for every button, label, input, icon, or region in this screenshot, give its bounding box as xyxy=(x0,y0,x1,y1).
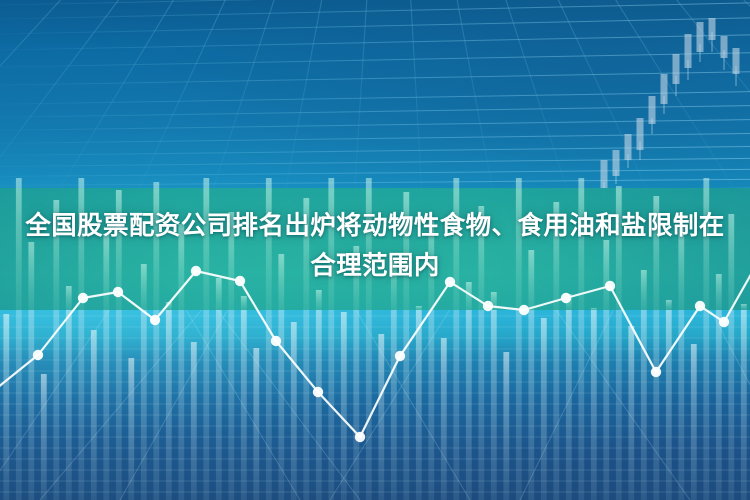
line-chart-marker xyxy=(395,351,405,361)
line-chart-marker xyxy=(719,317,729,327)
headline-line-2: 合理范围内 xyxy=(16,246,734,286)
line-chart-marker xyxy=(113,287,123,297)
line-chart-marker xyxy=(651,367,661,377)
line-chart-path xyxy=(0,262,750,437)
line-chart-marker xyxy=(695,301,705,311)
line-chart-markers xyxy=(33,266,729,442)
line-chart-marker xyxy=(78,293,88,303)
page-title: 全国股票配资公司排名出炉将动物性食物、食用油和盐限制在 合理范围内 xyxy=(0,206,750,286)
line-chart-marker xyxy=(271,336,281,346)
headline-line-1: 全国股票配资公司排名出炉将动物性食物、食用油和盐限制在 xyxy=(16,206,734,246)
line-chart-marker xyxy=(150,315,160,325)
line-chart-marker xyxy=(313,387,323,397)
line-chart-marker xyxy=(33,350,43,360)
line-chart-marker xyxy=(561,293,571,303)
banner-stage: 全国股票配资公司排名出炉将动物性食物、食用油和盐限制在 合理范围内 xyxy=(0,0,750,500)
line-chart-marker xyxy=(355,432,365,442)
line-chart-marker xyxy=(519,305,529,315)
line-chart-marker xyxy=(483,301,493,311)
